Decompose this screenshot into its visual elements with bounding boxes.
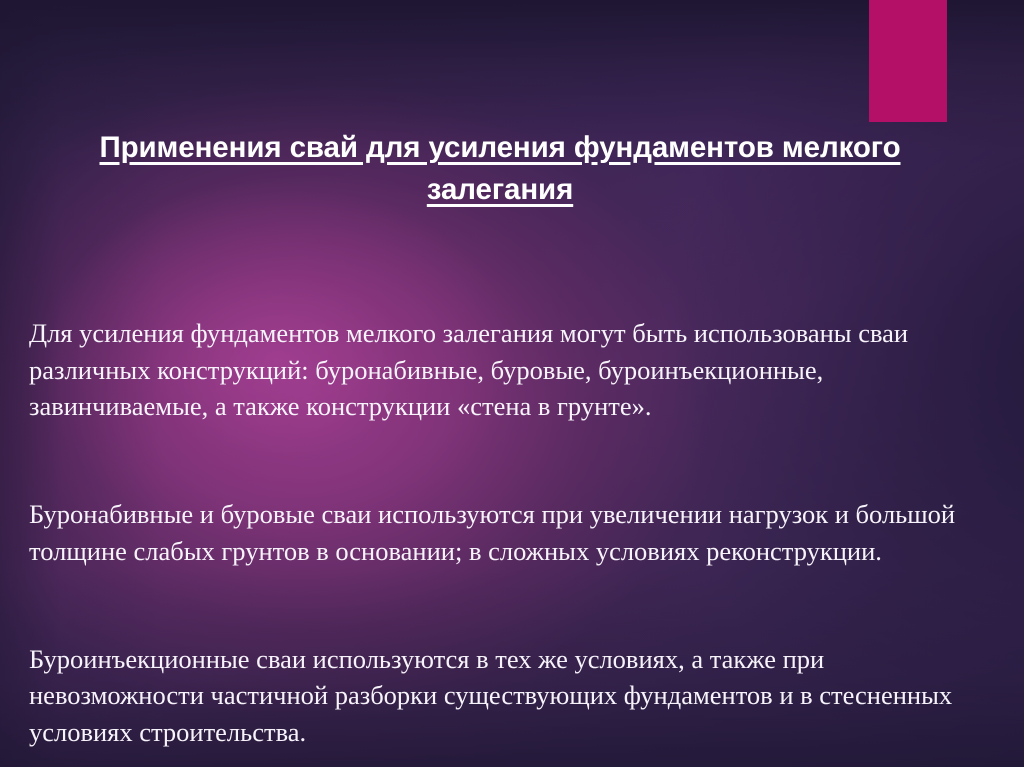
presentation-slide: Применения свай для усиления фундаментов… <box>0 0 1024 767</box>
body-paragraph-1: Для усиления фундаментов мелкого залеган… <box>29 315 994 424</box>
slide-body-text: Для усиления фундаментов мелкого залеган… <box>29 243 994 767</box>
accent-block-decoration <box>869 0 947 122</box>
body-paragraph-3: Буроинъекционные сваи используются в тех… <box>29 641 994 750</box>
body-paragraph-2: Буронабивные и буровые сваи используются… <box>29 496 994 568</box>
slide-title: Применения свай для усиления фундаментов… <box>28 127 972 211</box>
